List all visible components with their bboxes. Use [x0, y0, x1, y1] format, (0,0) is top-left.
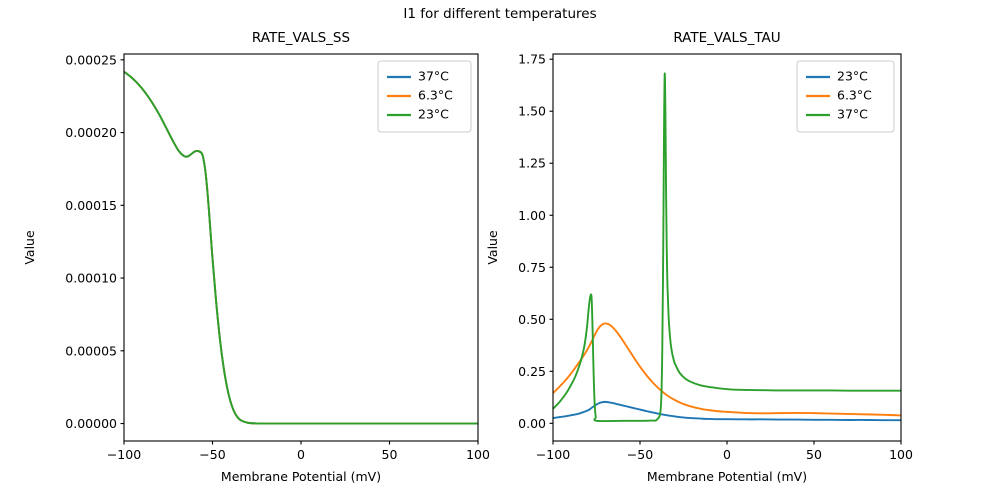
panel-title-left: RATE_VALS_SS — [252, 30, 350, 46]
xaxis-label-right: Membrane Potential (mV) — [647, 469, 807, 484]
xaxis-label-left: Membrane Potential (mV) — [221, 469, 381, 484]
matplotlib-figure: I1 for different temperatures RATE_VALS_… — [0, 0, 1000, 500]
legend-label-23C: 23°C — [837, 69, 868, 84]
yaxis-label-right: Value — [485, 230, 500, 265]
ytick-label: 0.00020 — [65, 125, 117, 140]
legend-left[interactable]: 37°C6.3°C23°C — [378, 61, 471, 132]
ytick-label: 0.00 — [518, 416, 546, 431]
figure-suptitle: I1 for different temperatures — [0, 6, 1000, 22]
axes-panel-left: RATE_VALS_SS−100−500501000.000000.000050… — [22, 30, 490, 484]
xtick-label: 50 — [806, 447, 822, 462]
legend-label-23C: 23°C — [418, 107, 449, 122]
xtick-label: −100 — [107, 447, 141, 462]
ytick-label: 0.50 — [518, 312, 546, 327]
xtick-label: 100 — [466, 447, 490, 462]
ytick-label: 0.00000 — [65, 416, 117, 431]
xtick-label: 0 — [297, 447, 305, 462]
ytick-label: 0.00010 — [65, 271, 117, 286]
xtick-label: 50 — [382, 447, 398, 462]
ytick-label: 1.75 — [518, 52, 546, 67]
legend-label-37C: 37°C — [418, 69, 449, 84]
ytick-label: 0.00005 — [65, 343, 117, 358]
ytick-label: 0.25 — [518, 364, 546, 379]
panel-title-right: RATE_VALS_TAU — [673, 30, 780, 46]
xtick-label: 100 — [889, 447, 913, 462]
ytick-label: 1.00 — [518, 208, 546, 223]
legend-label-63C: 6.3°C — [418, 88, 453, 103]
xtick-label: −50 — [627, 447, 653, 462]
xtick-label: −100 — [536, 447, 570, 462]
axes-panel-right: RATE_VALS_TAU−100−500501000.000.250.500.… — [485, 30, 913, 484]
ytick-label: 1.50 — [518, 104, 546, 119]
ytick-label: 1.25 — [518, 156, 546, 171]
yaxis-label-left: Value — [22, 230, 37, 265]
legend-label-63C: 6.3°C — [837, 88, 872, 103]
legend-label-37C: 37°C — [837, 107, 868, 122]
plot-canvas: RATE_VALS_SS−100−500501000.000000.000050… — [0, 0, 1000, 500]
xtick-label: 0 — [723, 447, 731, 462]
ytick-label: 0.00025 — [65, 52, 117, 67]
legend-right[interactable]: 23°C6.3°C37°C — [797, 61, 894, 132]
ytick-label: 0.00015 — [65, 198, 117, 213]
ytick-label: 0.75 — [518, 260, 546, 275]
xtick-label: −50 — [199, 447, 225, 462]
